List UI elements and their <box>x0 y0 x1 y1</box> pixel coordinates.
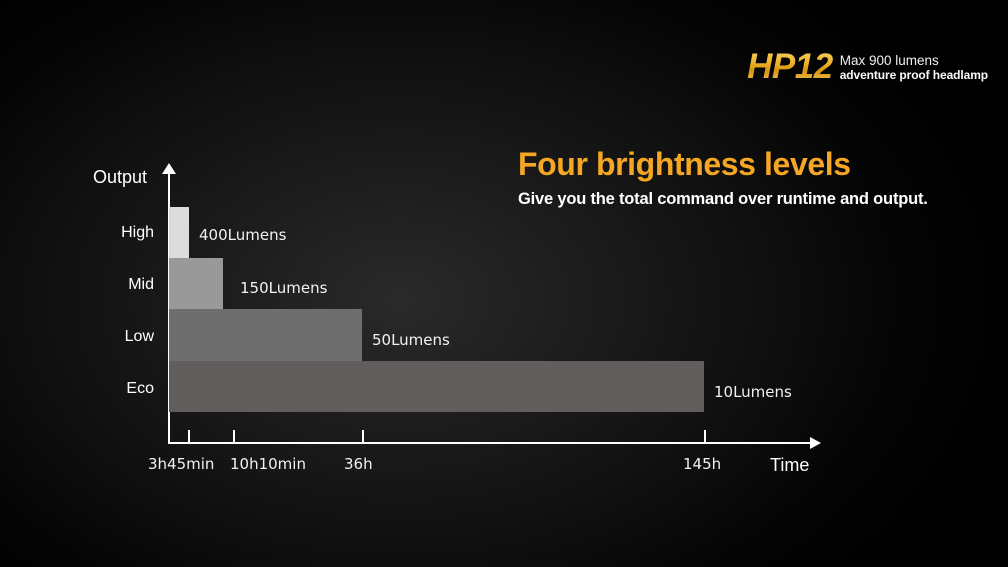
category-label-high: High <box>92 224 154 242</box>
bar-label-eco: 10Lumens <box>714 383 792 401</box>
x-tick-label-1: 3h45min <box>148 455 214 473</box>
x-tick-label-3: 36h <box>344 455 373 473</box>
bar-low[interactable] <box>169 309 362 361</box>
bar-mid[interactable] <box>169 258 223 309</box>
bar-label-mid: 150Lumens <box>240 279 327 297</box>
bar-label-high: 400Lumens <box>199 226 286 244</box>
x-tick-3 <box>362 430 364 443</box>
x-axis-arrow-icon <box>810 437 821 449</box>
x-tick-label-2: 10h10min <box>230 455 306 473</box>
y-axis-title: Output <box>93 167 147 188</box>
bar-eco[interactable] <box>169 361 704 412</box>
bar-label-low: 50Lumens <box>372 331 450 349</box>
x-axis-line <box>168 442 812 444</box>
x-tick-label-4: 145h <box>683 455 721 473</box>
slide-canvas: HP12 Max 900 lumens adventure proof head… <box>0 0 1008 567</box>
x-tick-4 <box>704 430 706 443</box>
category-label-mid: Mid <box>92 276 154 294</box>
runtime-output-bar-chart: Output Time High Mid Low Eco 400Lumens 1… <box>0 0 1008 567</box>
x-tick-2 <box>233 430 235 443</box>
x-axis-title: Time <box>770 455 809 476</box>
bar-high[interactable] <box>169 207 189 258</box>
y-axis-arrow-icon <box>162 163 176 174</box>
category-label-low: Low <box>92 328 154 346</box>
category-label-eco: Eco <box>92 380 154 398</box>
x-tick-1 <box>188 430 190 443</box>
